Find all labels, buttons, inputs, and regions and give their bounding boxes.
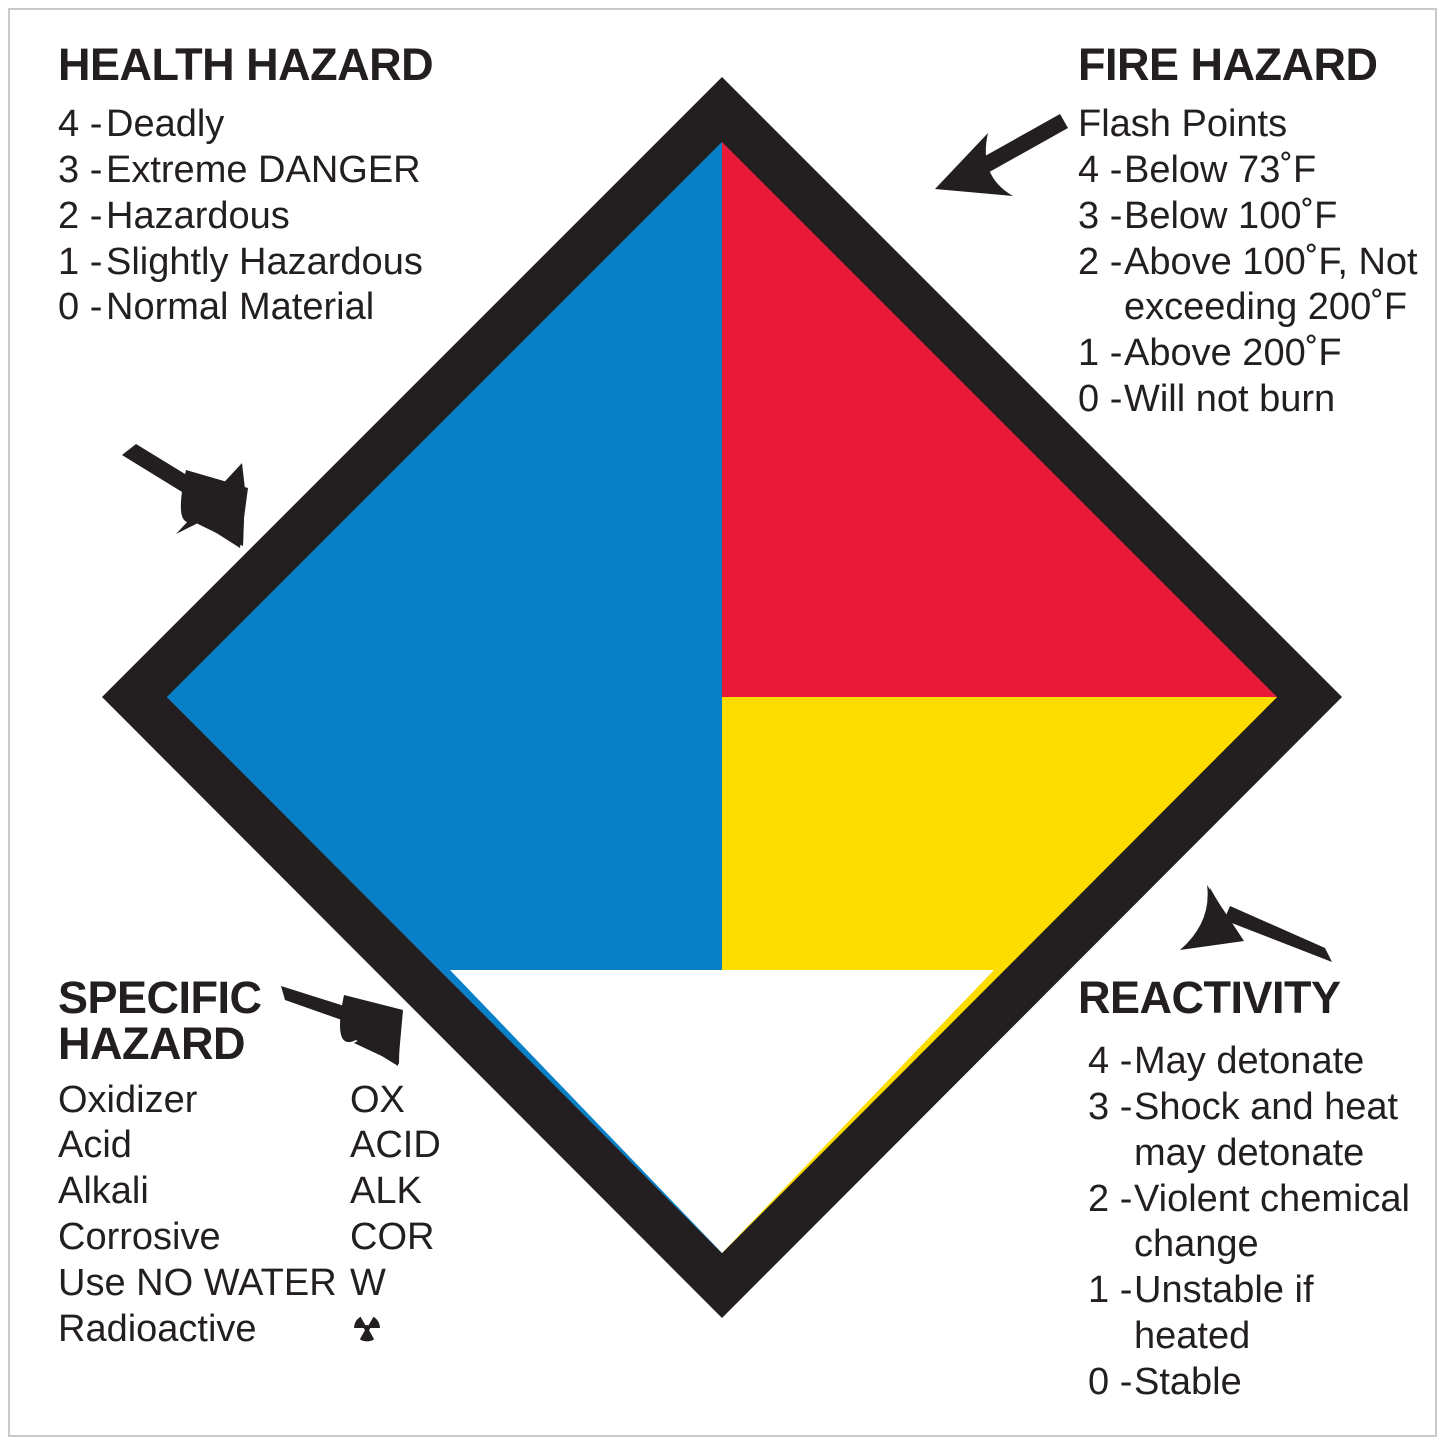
health-rating-text: Slightly Hazardous [106,240,458,286]
reactivity-rating-row: 4 - May detonate [1088,1039,1430,1085]
reactivity-rating-number: 4 - [1088,1039,1134,1085]
specific-hazard-list: Oxidizer OX Acid ACID Alkali ALK Corrosi… [58,1078,478,1357]
reactivity-rating-text: Shock and heat may detonate [1134,1085,1430,1177]
health-rating-text: Normal Material [106,285,458,331]
reactivity-rating-text: Violent chemical change [1134,1177,1430,1269]
fire-rating-row: 2 - Above 100˚F, Not exceeding 200˚F [1078,240,1430,332]
specific-hazard-name: Use NO WATER [58,1261,350,1307]
specific-hazard-row: Acid ACID [58,1123,478,1169]
health-rating-number: 3 - [58,148,106,194]
health-rating-number: 0 - [58,285,106,331]
fire-rating-text: Below 73˚F [1124,148,1430,194]
fire-rating-number: 4 - [1078,148,1124,194]
health-rating-number: 2 - [58,194,106,240]
fire-rating-text: Will not burn [1124,377,1430,423]
radioactive-trefoil-icon [350,1311,384,1357]
specific-hazard-row: Radioactive [58,1307,478,1357]
fire-rating-row: 1 - Above 200˚F [1078,331,1430,377]
reactivity-rating-text: Stable [1134,1360,1430,1406]
fire-rating-row: 3 - Below 100˚F [1078,194,1430,240]
reactivity-rating-row: 2 - Violent chemical change [1088,1177,1430,1269]
health-hazard-section: HEALTH HAZARD 4 - Deadly 3 - Extreme DAN… [58,42,458,331]
specific-hazard-name: Radioactive [58,1307,350,1353]
reactivity-rating-number: 2 - [1088,1177,1134,1223]
reactivity-rating-row: 1 - Unstable if heated [1088,1268,1430,1360]
fire-rating-row: 0 - Will not burn [1078,377,1430,423]
fire-rating-text: Above 100˚F, Not exceeding 200˚F [1124,240,1430,332]
health-rating-row: 1 - Slightly Hazardous [58,240,458,286]
health-rating-number: 4 - [58,102,106,148]
specific-hazard-row: Oxidizer OX [58,1078,478,1124]
reactivity-rating-number: 1 - [1088,1268,1134,1314]
fire-hazard-section: FIRE HAZARD Flash Points 4 - Below 73˚F … [1078,42,1430,423]
health-rating-text: Hazardous [106,194,458,240]
reactivity-rating-number: 0 - [1088,1360,1134,1406]
reactivity-rating-text: May detonate [1134,1039,1430,1085]
nfpa-hazard-label: HEALTH HAZARD 4 - Deadly 3 - Extreme DAN… [0,0,1445,1445]
health-rating-text: Deadly [106,102,458,148]
reactivity-rating-text: Unstable if heated [1134,1268,1430,1360]
fire-rating-text: Above 200˚F [1124,331,1430,377]
specific-hazard-name: Corrosive [58,1215,350,1261]
specific-hazard-code: W [350,1261,478,1307]
specific-hazard-row: Corrosive COR [58,1215,478,1261]
health-rating-text: Extreme DANGER [106,148,458,194]
reactivity-section: REACTIVITY 4 - May detonate 3 - Shock an… [1078,975,1430,1406]
specific-hazard-row: Alkali ALK [58,1169,478,1215]
health-rating-row: 4 - Deadly [58,102,458,148]
specific-hazard-name: Oxidizer [58,1078,350,1124]
fire-rating-row: 4 - Below 73˚F [1078,148,1430,194]
fire-rating-text: Below 100˚F [1124,194,1430,240]
specific-hazard-code-icon [350,1307,478,1357]
specific-hazard-name: Alkali [58,1169,350,1215]
reactivity-rating-number: 3 - [1088,1085,1134,1131]
fire-flash-points-label: Flash Points [1078,102,1430,148]
specific-hazard-code: ALK [350,1169,478,1215]
health-rating-row: 2 - Hazardous [58,194,458,240]
specific-hazard-section: SPECIFIC HAZARD Oxidizer OX Acid ACID Al… [58,975,478,1356]
specific-hazard-code: ACID [350,1123,478,1169]
fire-rating-number: 1 - [1078,331,1124,377]
health-hazard-title: HEALTH HAZARD [58,42,458,88]
fire-rating-number: 2 - [1078,240,1124,286]
reactivity-list: 4 - May detonate 3 - Shock and heat may … [1078,1039,1430,1405]
specific-hazard-code: COR [350,1215,478,1261]
health-rating-row: 3 - Extreme DANGER [58,148,458,194]
health-hazard-list: 4 - Deadly 3 - Extreme DANGER 2 - Hazard… [58,102,458,331]
health-rating-number: 1 - [58,240,106,286]
health-rating-row: 0 - Normal Material [58,285,458,331]
specific-hazard-code: OX [350,1078,478,1124]
fire-rating-number: 0 - [1078,377,1124,423]
reactivity-rating-row: 3 - Shock and heat may detonate [1088,1085,1430,1177]
specific-hazard-name: Acid [58,1123,350,1169]
specific-hazard-title: SPECIFIC HAZARD [58,975,288,1068]
fire-hazard-list: Flash Points 4 - Below 73˚F 3 - Below 10… [1078,102,1430,422]
fire-hazard-title: FIRE HAZARD [1078,42,1430,88]
fire-rating-number: 3 - [1078,194,1124,240]
reactivity-title: REACTIVITY [1078,975,1430,1021]
reactivity-rating-row: 0 - Stable [1088,1360,1430,1406]
specific-hazard-row: Use NO WATER W [58,1261,478,1307]
